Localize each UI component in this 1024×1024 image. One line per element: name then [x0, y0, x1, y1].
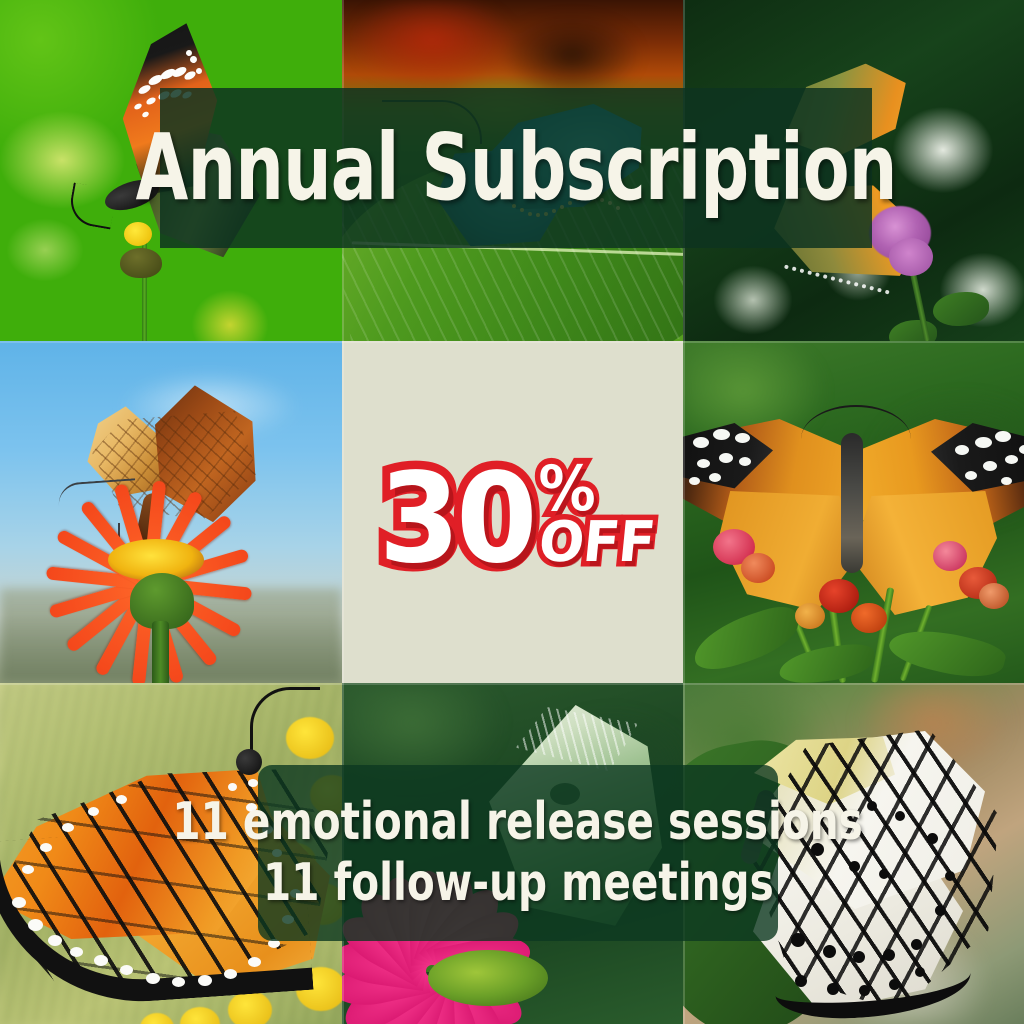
photo-cell-middle-right [683, 341, 1024, 683]
tiger-body-shape [841, 433, 863, 573]
milkweed-flower [741, 553, 775, 583]
discount-suffix-stack: % OFF [536, 464, 657, 568]
feature-item-2: 11 follow-up meetings [263, 856, 774, 911]
fritillary-wing-pattern [92, 411, 258, 521]
title-banner: Annual Subscription [160, 88, 872, 248]
discount-badge-inner: 30 % OFF [374, 464, 658, 572]
pink-zinnia-center [428, 950, 548, 1006]
discount-badge: 30 % OFF [388, 438, 643, 598]
milkweed-flower [933, 541, 967, 571]
discount-number: 30 [379, 466, 534, 573]
milkweed-flower [979, 583, 1009, 609]
purple-lantana-flower [889, 238, 933, 276]
zinnia-stalk-shape [152, 621, 169, 683]
daisy-center-shape [124, 222, 152, 246]
page-title: Annual Subscription [136, 122, 897, 214]
milkweed-flower [795, 603, 825, 629]
features-banner: 11 emotional release sessions 11 follow-… [258, 765, 778, 941]
lantana-leaf-shape [933, 292, 989, 326]
monarch-head-shape [236, 749, 262, 775]
discount-off-label: OFF [537, 517, 657, 569]
milkweed-flower [851, 603, 887, 633]
photo-cell-middle-left [0, 341, 342, 683]
promo-poster: Annual Subscription 30 % OFF 11 emotiona… [0, 0, 1024, 1024]
discount-percent-sign: % [539, 464, 596, 515]
milkweed-flower [819, 579, 859, 613]
feature-item-1: 11 emotional release sessions [173, 795, 863, 850]
